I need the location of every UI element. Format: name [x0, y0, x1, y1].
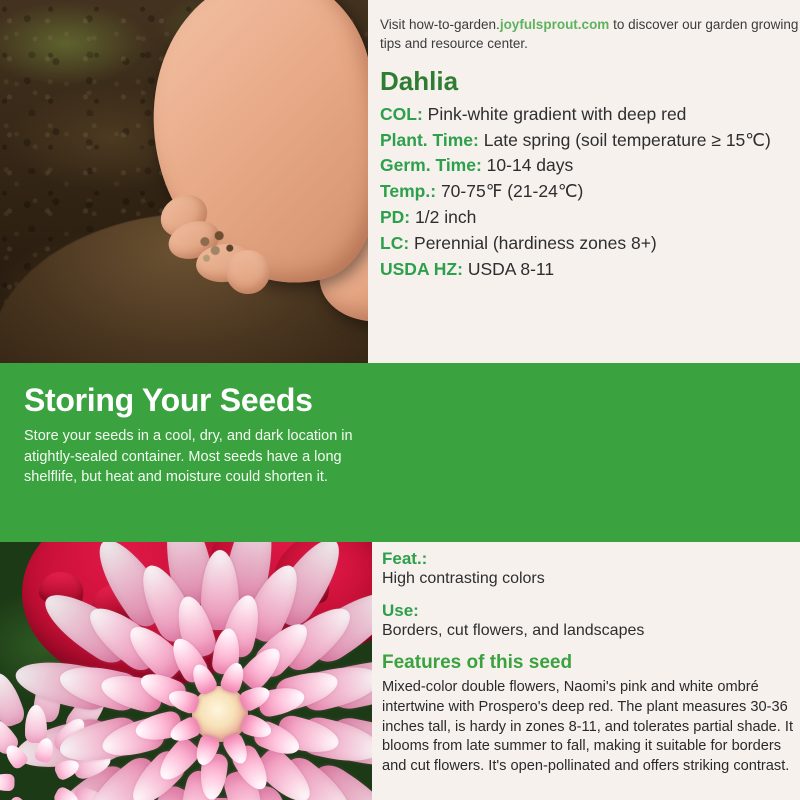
spec-key: COL: [380, 104, 423, 124]
storing-text-block: Storing Your Seeds Store your seeds in a… [24, 383, 374, 488]
spec-row-germ-time: Germ. Time: 10-14 days [380, 153, 800, 178]
spec-row-plant-time: Plant. Time: Late spring (soil temperatu… [380, 128, 800, 153]
feature-key: Feat.: [382, 548, 798, 569]
spec-key: Germ. Time: [380, 155, 482, 175]
seed-details-panel: Feat.: High contrasting colors Use: Bord… [382, 548, 798, 777]
spec-value: Perennial (hardiness zones 8+) [414, 233, 657, 253]
spec-value: Late spring (soil temperature ≥ 15℃) [484, 130, 771, 150]
use-key: Use: [382, 600, 798, 621]
flower-photo [0, 542, 372, 800]
page-title: Dahlia [380, 68, 800, 94]
features-body: Mixed-color double flowers, Naomi's pink… [382, 678, 798, 777]
spec-key: LC: [380, 233, 409, 253]
soil-photo [0, 0, 368, 363]
spec-value: 10-14 days [487, 155, 574, 175]
spec-key: PD: [380, 207, 410, 227]
use-block: Use: Borders, cut flowers, and landscape… [382, 600, 798, 642]
feature-block: Feat.: High contrasting colors [382, 548, 798, 590]
website-link[interactable]: joyfulsprout.com [500, 17, 610, 32]
visit-line: Visit how-to-garden.joyfulsprout.com to … [380, 16, 800, 54]
spec-row-usda-hz: USDA HZ: USDA 8-11 [380, 257, 800, 282]
storing-seeds-band: Storing Your Seeds Store your seeds in a… [0, 363, 800, 542]
storing-title: Storing Your Seeds [24, 383, 374, 418]
use-value: Borders, cut flowers, and landscapes [382, 621, 798, 642]
visit-pre-text: Visit how-to-garden. [380, 17, 500, 32]
pink-dahlia-main [70, 564, 370, 800]
features-heading: Features of this seed [382, 652, 798, 675]
feature-value: High contrasting colors [382, 569, 798, 590]
spec-row-pd: PD: 1/2 inch [380, 205, 800, 230]
plant-info-panel: Visit how-to-garden.joyfulsprout.com to … [380, 0, 800, 363]
spec-row-temp: Temp.: 70-75℉ (21-24℃) [380, 179, 800, 204]
flower-petal [0, 774, 14, 791]
spec-key: Plant. Time: [380, 130, 479, 150]
spec-value: Pink-white gradient with deep red [428, 104, 687, 124]
features-block: Features of this seed Mixed-color double… [382, 652, 798, 777]
spec-value: 70-75℉ (21-24℃) [441, 181, 583, 201]
flower-petal [0, 794, 28, 800]
seed-packet-page: Visit how-to-garden.joyfulsprout.com to … [0, 0, 800, 800]
spec-row-col: COL: Pink-white gradient with deep red [380, 102, 800, 127]
spec-key: Temp.: [380, 181, 436, 201]
spec-key: USDA HZ: [380, 259, 463, 279]
spec-row-lc: LC: Perennial (hardiness zones 8+) [380, 231, 800, 256]
storing-body: Store your seeds in a cool, dry, and dar… [24, 426, 374, 488]
spec-value: 1/2 inch [415, 207, 476, 227]
spec-value: USDA 8-11 [468, 259, 554, 279]
spec-list: COL: Pink-white gradient with deep red P… [380, 102, 800, 282]
